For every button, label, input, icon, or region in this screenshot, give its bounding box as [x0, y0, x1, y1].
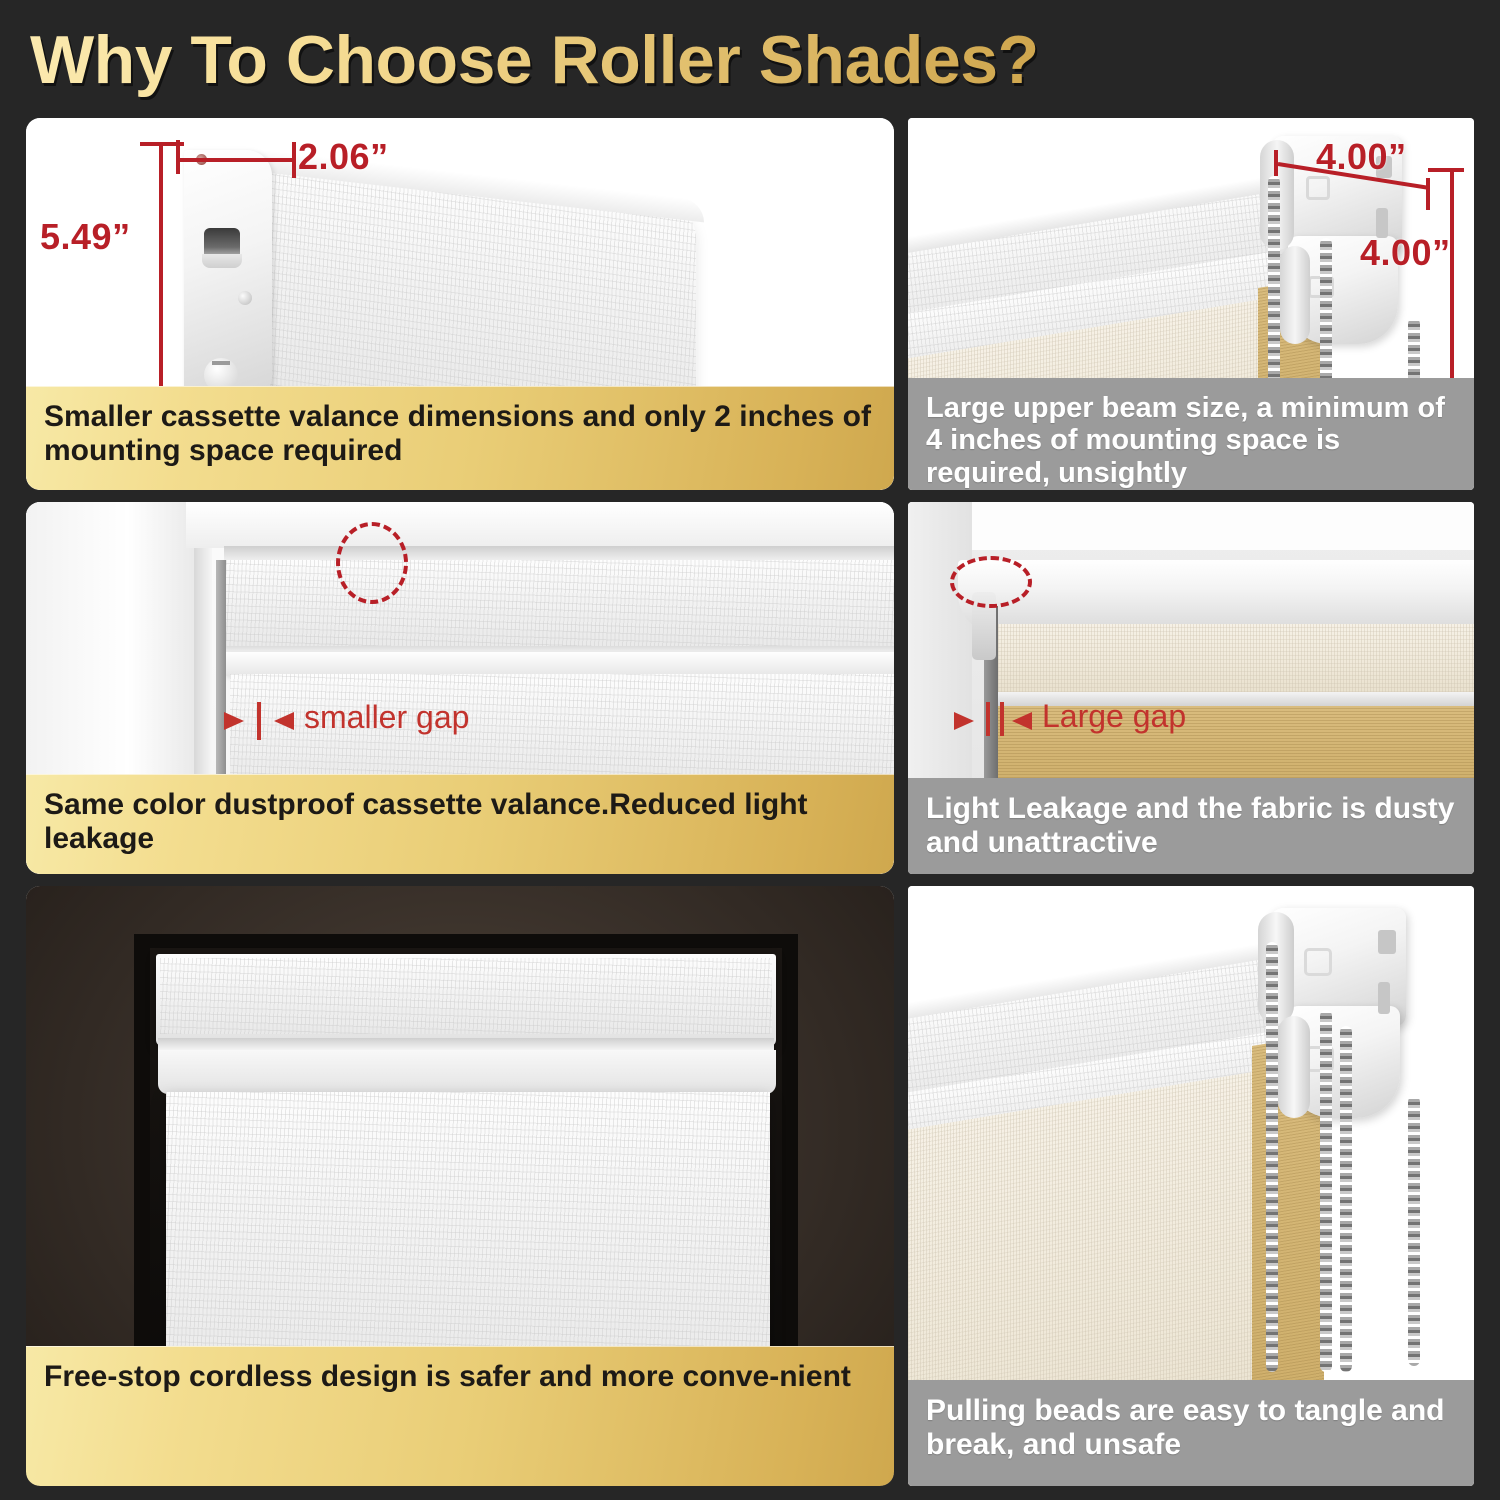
shade-fabric: [166, 1092, 770, 1384]
beam-height-dimension-label: 4.00”: [1360, 232, 1451, 274]
panel-cordless-design: Free-stop cordless design is safer and m…: [26, 886, 894, 1486]
highlight-circle: [950, 556, 1032, 608]
height-dimension-label: 5.49”: [40, 216, 131, 258]
page-title: Why To Choose Roller Shades?: [30, 14, 1470, 106]
large-gap-arrow-in-right: [1012, 712, 1032, 730]
caption-panel-5: Free-stop cordless design is safer and m…: [26, 1346, 894, 1486]
panel-large-gap: Large gap Light Leakage and the fabric i…: [908, 502, 1474, 874]
caption-panel-2: Large upper beam size, a minimum of 4 in…: [908, 378, 1474, 490]
caption-panel-6: Pulling beads are easy to tangle and bre…: [908, 1380, 1474, 1486]
bead-chain: [1340, 1026, 1352, 1372]
panel-smaller-gap: smaller gap Same color dustproof cassett…: [26, 502, 894, 874]
panel-pulling-beads: Pulling beads are easy to tangle and bre…: [908, 886, 1474, 1486]
caption-panel-1: Smaller cassette valance dimensions and …: [26, 386, 894, 490]
highlight-circle: [336, 522, 408, 604]
large-gap-arrow-in-left: [954, 712, 974, 730]
large-gap-label: Large gap: [1042, 698, 1186, 735]
bead-chain: [1408, 1096, 1420, 1366]
beam-height-dimension-line: [1450, 170, 1454, 382]
large-gap-marker: [986, 702, 990, 736]
width-dimension-line: [178, 158, 296, 162]
beam-width-dimension-label: 4.00”: [1316, 136, 1407, 178]
bead-chain: [1266, 942, 1278, 1372]
bead-chain: [1320, 1010, 1332, 1372]
comparison-grid: 2.06” 5.49” Smaller cassette valance dim…: [0, 108, 1500, 1500]
width-dimension-label: 2.06”: [298, 136, 389, 178]
large-gap-marker-2: [1000, 702, 1004, 736]
panel-cassette-dimensions: 2.06” 5.49” Smaller cassette valance dim…: [26, 118, 894, 490]
caption-panel-4: Light Leakage and the fabric is dusty an…: [908, 778, 1474, 874]
caption-panel-3: Same color dustproof cassette valance.Re…: [26, 774, 894, 874]
page-title-text: Why To Choose Roller Shades?: [30, 21, 1039, 99]
panel-large-upper-beam: 4.00” 4.00” Large upper beam size, a min…: [908, 118, 1474, 490]
